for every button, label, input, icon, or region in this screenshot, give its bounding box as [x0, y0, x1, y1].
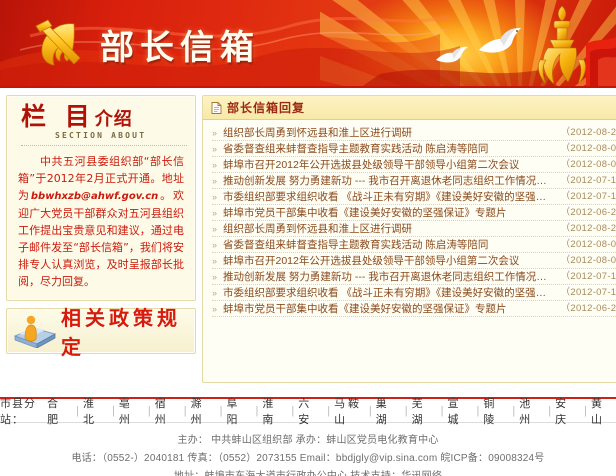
city-separator: | — [405, 405, 408, 417]
city-link-0[interactable]: 合 肥 — [47, 395, 72, 427]
list-item[interactable]: »省委督查组来蚌督查指导主题教育实践活动 陈启涛等陪同（2012-08-08） — [212, 141, 616, 157]
section-about-header: 栏 目介绍 SECTION ABOUT — [15, 104, 187, 146]
list-item[interactable]: »蚌埠市召开2012年公开选拔县处级领导干部领导小组第二次会议（2012-08-… — [212, 157, 616, 173]
list-item-link[interactable]: 组织部长周勇到怀远县和淮上区进行调研 — [223, 221, 553, 237]
city-link-8[interactable]: 马鞍山 — [334, 395, 365, 427]
city-separator: | — [76, 405, 79, 417]
chevron-right-icon: » — [212, 125, 223, 141]
news-list: »组织部长周勇到怀远县和淮上区进行调研（2012-08-24）»省委督查组来蚌督… — [203, 120, 616, 382]
policy-panel-label: 相关政策规定 — [61, 302, 195, 360]
site-banner: 部长信箱 — [0, 0, 616, 88]
city-link-4[interactable]: 滁 州 — [191, 395, 216, 427]
chevron-right-icon: » — [212, 205, 223, 221]
city-separator: | — [184, 405, 187, 417]
section-divider — [21, 145, 187, 146]
book-person-icon — [7, 314, 61, 348]
city-separator: | — [512, 405, 515, 417]
list-item[interactable]: »省委督查组来蚌督查指导主题教育实践活动 陈启涛等陪同（2012-08-08） — [212, 237, 616, 253]
list-item-date: （2012-08-06） — [553, 157, 616, 173]
city-link-9[interactable]: 巢 湖 — [376, 395, 401, 427]
section-about-title-sub: 介绍 — [95, 109, 133, 130]
list-item-link[interactable]: 市委组织部要求组织收看 《战斗正未有穷期》《建设美好安徽的坚强保证》题片 — [223, 189, 553, 205]
city-separator: | — [327, 405, 330, 417]
section-about-panel: 栏 目介绍 SECTION ABOUT 中共五河县委组织部“部长信箱”于2012… — [6, 95, 196, 301]
list-item[interactable]: »组织部长周勇到怀远县和淮上区进行调研（2012-08-24） — [212, 221, 616, 237]
city-link-2[interactable]: 亳 州 — [119, 395, 144, 427]
list-item-link[interactable]: 蚌埠市党员干部集中收看《建设美好安徽的坚强保证》专题片 — [223, 301, 553, 317]
list-item-link[interactable]: 省委督查组来蚌督查指导主题教育实践活动 陈启涛等陪同 — [223, 141, 553, 157]
list-item-date: （2012-08-24） — [553, 221, 616, 237]
list-item-link[interactable]: 市委组织部要求组织收看 《战斗正未有穷期》《建设美好安徽的坚强保证》题片 — [223, 285, 553, 301]
chevron-right-icon: » — [212, 189, 223, 205]
list-item-link[interactable]: 推动创新发展 努力勇建新功 --- 我市召开离退休老同志组织工作情况通报会 — [223, 173, 553, 189]
list-item[interactable]: »市委组织部要求组织收看 《战斗正未有穷期》《建设美好安徽的坚强保证》题片（20… — [212, 189, 616, 205]
chevron-right-icon: » — [212, 285, 223, 301]
chevron-right-icon: » — [212, 173, 223, 189]
city-separator: | — [148, 405, 151, 417]
city-separator: | — [477, 405, 480, 417]
page-title: 部长信箱 — [100, 20, 260, 69]
city-separator: | — [584, 405, 587, 417]
list-item-date: （2012-08-08） — [553, 237, 616, 253]
torch-icon — [534, 4, 590, 86]
section-about-body: 中共五河县委组织部“部长信箱”于2012年2月正式开通。地址为bbwhxzb@a… — [15, 153, 187, 290]
city-separator: | — [369, 405, 372, 417]
section-about-title: 栏 目介绍 — [21, 104, 133, 130]
list-item-date: （2012-06-28） — [553, 301, 616, 317]
city-separator: | — [220, 405, 223, 417]
city-link-12[interactable]: 铜 陵 — [483, 395, 508, 427]
list-item-date: （2012-08-08） — [553, 141, 616, 157]
list-item-link[interactable]: 蚌埠市召开2012年公开选拔县处级领导干部领导小组第二次会议 — [223, 253, 553, 269]
list-item-date: （2012-07-18） — [553, 173, 616, 189]
chevron-right-icon: » — [212, 221, 223, 237]
chevron-right-icon: » — [212, 269, 223, 285]
city-link-15[interactable]: 黄 山 — [591, 395, 616, 427]
chevron-right-icon: » — [212, 157, 223, 173]
contact-email: bbwhxzb@ahwf.gov.cn — [31, 191, 158, 202]
city-link-10[interactable]: 芜 湖 — [412, 395, 437, 427]
policy-panel[interactable]: 相关政策规定 — [6, 308, 196, 354]
list-item-date: （2012-07-18） — [553, 269, 616, 285]
red-flag-icon — [586, 36, 616, 88]
city-substation-bar: 市县分站： 合 肥|淮 北|亳 州|宿 州|滁 州|阜 阳|淮 南|六 安|马鞍… — [0, 397, 616, 423]
list-item-date: （2012-08-06） — [553, 253, 616, 269]
city-link-13[interactable]: 池 州 — [519, 395, 544, 427]
city-separator: | — [291, 405, 294, 417]
footer-line-address: 地址：蚌埠市东海大道市行政办公中心 技术支持：华迅网络 — [0, 468, 616, 476]
list-item-link[interactable]: 蚌埠市党员干部集中收看《建设美好安徽的坚强保证》专题片 — [223, 205, 553, 221]
list-item-link[interactable]: 蚌埠市召开2012年公开选拔县处级领导干部领导小组第二次会议 — [223, 157, 553, 173]
section-about-text-2: 。欢迎广大党员干部群众对五河县组织工作提出宝贵意见和建议，通过电子邮件发至“部长… — [18, 189, 184, 288]
city-separator: | — [255, 405, 258, 417]
footer-line-organizers: 主办： 中共蚌山区组织部 承办：蚌山区党员电化教育中心 — [0, 432, 616, 450]
list-item[interactable]: »组织部长周勇到怀远县和淮上区进行调研（2012-08-24） — [212, 125, 616, 141]
site-footer: 主办： 中共蚌山区组织部 承办：蚌山区党员电化教育中心 电话：（0552-）20… — [0, 423, 616, 476]
silk-ribbon-decoration — [0, 0, 616, 88]
city-separator: | — [548, 405, 551, 417]
city-separator: | — [441, 405, 444, 417]
list-item[interactable]: »推动创新发展 努力勇建新功 --- 我市召开离退休老同志组织工作情况通报会（2… — [212, 269, 616, 285]
chevron-right-icon: » — [212, 301, 223, 317]
document-icon — [211, 102, 222, 114]
city-link-5[interactable]: 阜 阳 — [226, 395, 251, 427]
city-link-14[interactable]: 安 庆 — [555, 395, 580, 427]
dove-icon — [476, 26, 522, 56]
content-header: 部长信箱回复 — [203, 96, 616, 120]
list-item-date: （2012-08-24） — [553, 125, 616, 141]
hammer-sickle-icon — [30, 18, 88, 70]
list-item[interactable]: »蚌埠市召开2012年公开选拔县处级领导干部领导小组第二次会议（2012-08-… — [212, 253, 616, 269]
page-root: 部长信箱 — [0, 0, 616, 476]
list-item[interactable]: »蚌埠市党员干部集中收看《建设美好安徽的坚强保证》专题片（2012-06-28） — [212, 205, 616, 221]
city-link-3[interactable]: 宿 州 — [155, 395, 180, 427]
dove-icon — [434, 44, 470, 66]
sidebar: 栏 目介绍 SECTION ABOUT 中共五河县委组织部“部长信箱”于2012… — [6, 95, 196, 390]
minister-mailbox-reply-box: 部长信箱回复 »组织部长周勇到怀远县和淮上区进行调研（2012-08-24）»省… — [202, 95, 616, 383]
city-bar-label: 市县分站： — [0, 395, 44, 427]
city-link-6[interactable]: 淮 南 — [262, 395, 287, 427]
list-item-date: （2012-07-17） — [553, 285, 616, 301]
section-about-title-main: 栏 目 — [21, 102, 95, 131]
section-about-subtitle: SECTION ABOUT — [55, 131, 187, 140]
list-item[interactable]: »市委组织部要求组织收看 《战斗正未有穷期》《建设美好安徽的坚强保证》题片（20… — [212, 285, 616, 301]
city-links-container: 市县分站： 合 肥|淮 北|亳 州|宿 州|滁 州|阜 阳|淮 南|六 安|马鞍… — [0, 395, 616, 427]
footer-line-contact: 电话：（0552-）2040181 传真：（0552）2073155 Email… — [0, 450, 616, 468]
chevron-right-icon: » — [212, 237, 223, 253]
list-item-link[interactable]: 组织部长周勇到怀远县和淮上区进行调研 — [223, 125, 553, 141]
city-separator: | — [112, 405, 115, 417]
city-link-7[interactable]: 六 安 — [298, 395, 323, 427]
city-link-1[interactable]: 淮 北 — [83, 395, 108, 427]
list-item-link[interactable]: 省委督查组来蚌督查指导主题教育实践活动 陈启涛等陪同 — [223, 237, 553, 253]
chevron-right-icon: » — [212, 141, 223, 157]
content-header-title: 部长信箱回复 — [227, 99, 305, 116]
city-link-11[interactable]: 宣 城 — [448, 395, 473, 427]
list-item[interactable]: »推动创新发展 努力勇建新功 --- 我市召开离退休老同志组织工作情况通报会（2… — [212, 173, 616, 189]
list-item[interactable]: »蚌埠市党员干部集中收看《建设美好安徽的坚强保证》专题片（2012-06-28） — [212, 301, 616, 317]
list-item-date: （2012-06-28） — [553, 205, 616, 221]
main-content: 部长信箱回复 »组织部长周勇到怀远县和淮上区进行调研（2012-08-24）»省… — [202, 95, 616, 390]
list-item-date: （2012-07-17） — [553, 189, 616, 205]
list-item-link[interactable]: 推动创新发展 努力勇建新功 --- 我市召开离退休老同志组织工作情况通报会 — [223, 269, 553, 285]
content-wrap: 栏 目介绍 SECTION ABOUT 中共五河县委组织部“部长信箱”于2012… — [0, 88, 616, 390]
chevron-right-icon: » — [212, 253, 223, 269]
